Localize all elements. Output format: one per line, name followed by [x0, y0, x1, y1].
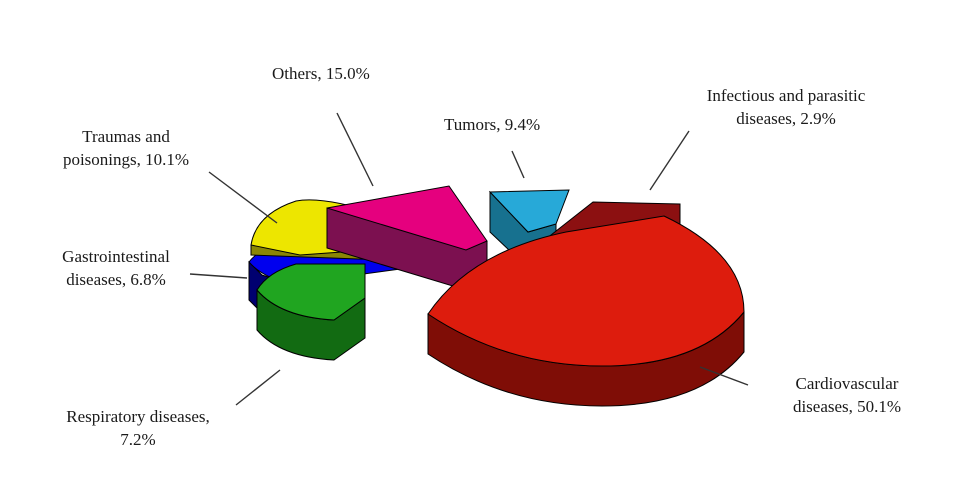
leader-line-tumors: [512, 151, 524, 178]
pie-label-others: Others, 15.0%: [272, 62, 412, 85]
pie-label-cardiovascular: Cardiovascular diseases, 50.1%: [752, 372, 942, 418]
leader-line-respiratory: [236, 370, 280, 405]
pie-label-infectious: Infectious and parasitic diseases, 2.9%: [686, 84, 886, 130]
pie-label-tumors: Tumors, 9.4%: [444, 113, 594, 136]
pie-label-gastrointestinal: Gastrointestinal diseases, 6.8%: [42, 245, 190, 291]
leader-line-infectious: [650, 131, 689, 190]
pie-label-traumas: Traumas and poisonings, 10.1%: [42, 125, 210, 171]
leader-line-traumas: [209, 172, 277, 223]
leader-line-others: [337, 113, 373, 186]
pie-chart: Others, 15.0% Tumors, 9.4% Infectious an…: [0, 0, 953, 504]
pie-label-respiratory: Respiratory diseases, 7.2%: [48, 405, 228, 451]
pie-slice-respiratory[interactable]: [257, 264, 365, 360]
leader-line-gastrointestinal: [190, 274, 247, 278]
